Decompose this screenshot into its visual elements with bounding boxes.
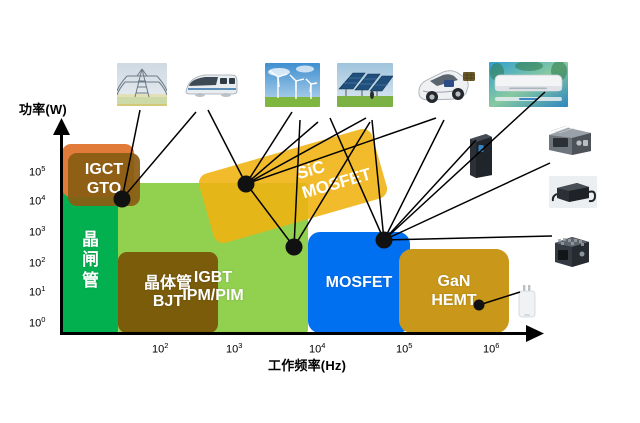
thumb-solar-power: 太阳能 bbox=[337, 63, 393, 107]
region-bjt-line1: 晶体管 bbox=[144, 275, 192, 292]
x-axis-title: 工作频率(Hz) bbox=[268, 355, 346, 374]
thumb-electric-vehicle-label: 电动车 bbox=[430, 106, 460, 108]
y-tick-1e5: 105 bbox=[29, 164, 45, 179]
x-tick-1e5: 105 bbox=[396, 341, 412, 356]
region-gan-line2: HEMT bbox=[431, 292, 476, 309]
thumb-switching-psu: 开关电源 bbox=[546, 126, 594, 156]
thumb-electric-vehicle: 电动车 bbox=[413, 60, 477, 108]
thumb-audio-equipment: 音频设备 bbox=[552, 233, 592, 269]
x-tick-1e2: 102 bbox=[152, 341, 168, 356]
chart-canvas: IGBT IPM/PIM 晶 闸 管 晶体管 BJT MOSFET GaN HE… bbox=[0, 0, 640, 423]
region-thyristor-line1: 晶 bbox=[82, 230, 99, 249]
transmission-tower-photo bbox=[117, 63, 167, 106]
y-tick-1e3: 103 bbox=[29, 224, 45, 239]
x-axis-line bbox=[60, 332, 530, 335]
region-gan-hemt: GaN HEMT bbox=[399, 249, 509, 333]
region-igbt-line1: IGBT bbox=[194, 269, 232, 286]
thumb-power-grid: 电力 bbox=[117, 63, 167, 106]
y-axis-line bbox=[60, 133, 63, 334]
region-igct-line2: GTO bbox=[87, 180, 121, 197]
y-tick-1e1: 101 bbox=[29, 284, 45, 299]
region-thyristor: 晶 闸 管 bbox=[63, 188, 118, 333]
air-conditioner-photo bbox=[489, 62, 568, 107]
audio-amp-photo bbox=[552, 233, 592, 269]
solar-panel-photo bbox=[337, 63, 393, 107]
y-tick-1e4: 104 bbox=[29, 193, 45, 208]
wall-charger-photo bbox=[516, 283, 538, 321]
thumb-ups: UPS bbox=[466, 131, 495, 179]
wind-turbine-photo bbox=[265, 63, 320, 107]
thumb-high-speed-rail: 高铁 bbox=[182, 64, 238, 104]
laptop-adapter-photo bbox=[549, 176, 597, 208]
thumb-wind-power: 风电 bbox=[265, 63, 320, 107]
x-tick-1e4: 104 bbox=[309, 341, 325, 356]
y-axis-arrow bbox=[52, 118, 72, 138]
region-bjt-line2: BJT bbox=[153, 293, 183, 310]
region-mosfet-line1: MOSFET bbox=[326, 274, 393, 291]
y-axis-title: 功率(W) bbox=[19, 99, 67, 118]
region-igct-gto-label: IGCT GTO bbox=[68, 153, 140, 206]
thumb-adapter: 适配器 bbox=[549, 176, 597, 208]
region-mosfet: MOSFET bbox=[308, 232, 410, 333]
region-gan-line1: GaN bbox=[438, 273, 471, 290]
y-tick-1e2: 102 bbox=[29, 255, 45, 270]
psu-photo bbox=[546, 126, 594, 156]
x-tick-1e6: 106 bbox=[483, 341, 499, 356]
thumb-inverter-appliance: 变频家电 bbox=[489, 62, 568, 107]
region-thyristor-line2: 闸 bbox=[82, 250, 99, 269]
thumb-fast-charger-label: 快充 bbox=[517, 319, 537, 321]
region-igct-line1: IGCT bbox=[85, 161, 123, 178]
region-thyristor-line3: 管 bbox=[82, 271, 99, 290]
bullet-train-photo bbox=[182, 64, 238, 104]
thumb-fast-charger: 快充 bbox=[516, 283, 538, 321]
x-tick-1e3: 103 bbox=[226, 341, 242, 356]
ev-car-photo bbox=[413, 60, 477, 108]
ups-cabinet-photo bbox=[466, 131, 495, 179]
x-axis-arrow bbox=[524, 325, 544, 343]
y-tick-1e0: 100 bbox=[29, 315, 45, 330]
